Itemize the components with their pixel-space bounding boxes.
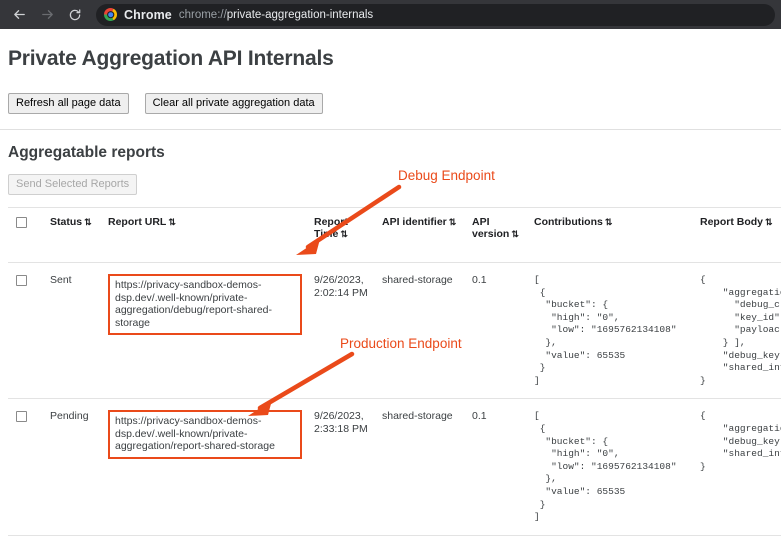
row-0-api-version: 0.1 [466,263,528,399]
reload-icon[interactable] [62,2,88,28]
omnibox-url: chrome://private-aggregation-internals [179,9,373,21]
row-select-cell [8,263,44,399]
forward-arrow-icon[interactable] [34,2,60,28]
page-content: Private Aggregation API Internals Refres… [0,47,781,536]
sort-icon[interactable]: ⇅ [511,229,518,239]
omnibox-app-label: Chrome [124,8,172,22]
chrome-logo-icon [104,8,117,21]
refresh-all-page-data-button[interactable]: Refresh all page data [8,93,129,114]
row-0-status: Sent [44,263,102,399]
send-selected-reports-button[interactable]: Send Selected Reports [8,174,137,195]
select-all-checkbox[interactable] [16,217,27,228]
omnibox[interactable]: Chrome chrome://private-aggregation-inte… [96,4,775,26]
column-header-report-url[interactable]: Report URL⇅ [102,208,308,263]
sort-icon[interactable]: ⇅ [449,217,456,227]
page-action-buttons: Refresh all page data Clear all private … [8,93,773,114]
column-header-report-time[interactable]: Report Time⇅ [308,208,376,263]
row-1-status: Pending [44,399,102,535]
table-row: Pending https://privacy-sandbox-demos-ds… [8,399,781,535]
row-select-cell [8,399,44,535]
report-body-json: { "aggregatio "debug_c "key_id" "payloac… [700,274,781,387]
column-header-api-identifier[interactable]: API identifier⇅ [376,208,466,263]
sort-icon[interactable]: ⇅ [765,217,772,227]
back-arrow-icon[interactable] [6,2,32,28]
annotation-label-production-endpoint: Production Endpoint [340,336,462,351]
row-0-report-url[interactable]: https://privacy-sandbox-demos-dsp.dev/.w… [108,274,302,335]
contributions-json: [ { "bucket": { "high": "0", "low": "169… [534,274,688,387]
divider [0,129,781,130]
column-header-contributions[interactable]: Contributions⇅ [528,208,694,263]
row-0-api-identifier: shared-storage [376,263,466,399]
row-0-report-url-cell: https://privacy-sandbox-demos-dsp.dev/.w… [102,263,308,399]
sort-icon[interactable]: ⇅ [168,217,175,227]
row-1-report-body: { "aggregatio "debug_key" "shared_inf } [694,399,781,535]
column-header-report-body[interactable]: Report Body⇅ [694,208,781,263]
row-1-contributions: [ { "bucket": { "high": "0", "low": "169… [528,399,694,535]
column-header-api-version[interactable]: API version⇅ [466,208,528,263]
row-1-api-identifier: shared-storage [376,399,466,535]
row-0-contributions: [ { "bucket": { "high": "0", "low": "169… [528,263,694,399]
row-1-report-url[interactable]: https://privacy-sandbox-demos-dsp.dev/.w… [108,410,302,459]
table-row: Sent https://privacy-sandbox-demos-dsp.d… [8,263,781,399]
sort-icon[interactable]: ⇅ [84,217,91,227]
row-1-api-version: 0.1 [466,399,528,535]
column-header-status[interactable]: Status⇅ [44,208,102,263]
page-title: Private Aggregation API Internals [8,47,773,71]
row-1-report-time: 9/26/2023, 2:33:18 PM [308,399,376,535]
section-title-aggregatable-reports: Aggregatable reports [8,144,773,162]
table-header-row: Status⇅ Report URL⇅ Report Time⇅ API ide… [8,208,781,263]
row-0-report-body: { "aggregatio "debug_c "key_id" "payloac… [694,263,781,399]
row-1-report-url-cell: https://privacy-sandbox-demos-dsp.dev/.w… [102,399,308,535]
row-0-report-time: 9/26/2023, 2:02:14 PM [308,263,376,399]
contributions-json: [ { "bucket": { "high": "0", "low": "169… [534,410,688,523]
report-body-json: { "aggregatio "debug_key" "shared_inf } [700,410,781,473]
clear-all-private-aggregation-data-button[interactable]: Clear all private aggregation data [145,93,323,114]
browser-toolbar: Chrome chrome://private-aggregation-inte… [0,0,781,29]
row-checkbox[interactable] [16,275,27,286]
sort-icon[interactable]: ⇅ [340,229,347,239]
row-checkbox[interactable] [16,411,27,422]
aggregatable-reports-table: Status⇅ Report URL⇅ Report Time⇅ API ide… [8,207,781,536]
select-all-header [8,208,44,263]
send-reports-row: Send Selected Reports [8,174,773,195]
annotation-label-debug-endpoint: Debug Endpoint [398,168,495,183]
sort-icon[interactable]: ⇅ [605,217,612,227]
